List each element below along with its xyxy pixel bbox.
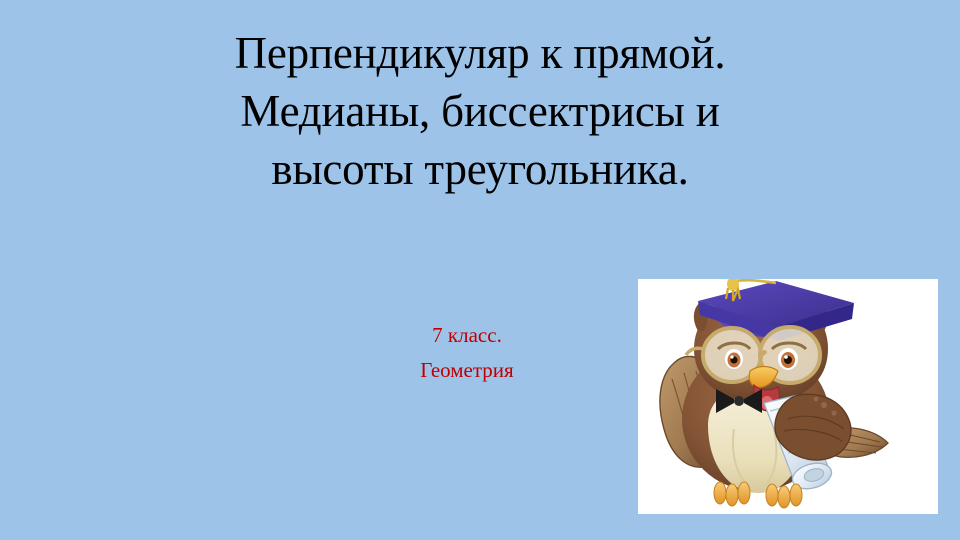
slide-title: Перпендикуляр к прямой. Медианы, биссект… (60, 24, 900, 198)
title-line-2: Медианы, биссектрисы и (60, 82, 900, 140)
cap-tassel-cord (736, 280, 776, 283)
title-line-3: высоты треугольника. (60, 140, 900, 198)
presentation-slide: Перпендикуляр к прямой. Медианы, биссект… (0, 0, 960, 540)
graduate-owl-icon (638, 279, 938, 514)
title-line-1: Перпендикуляр к прямой. (60, 24, 900, 82)
owl-image-frame (638, 279, 938, 514)
